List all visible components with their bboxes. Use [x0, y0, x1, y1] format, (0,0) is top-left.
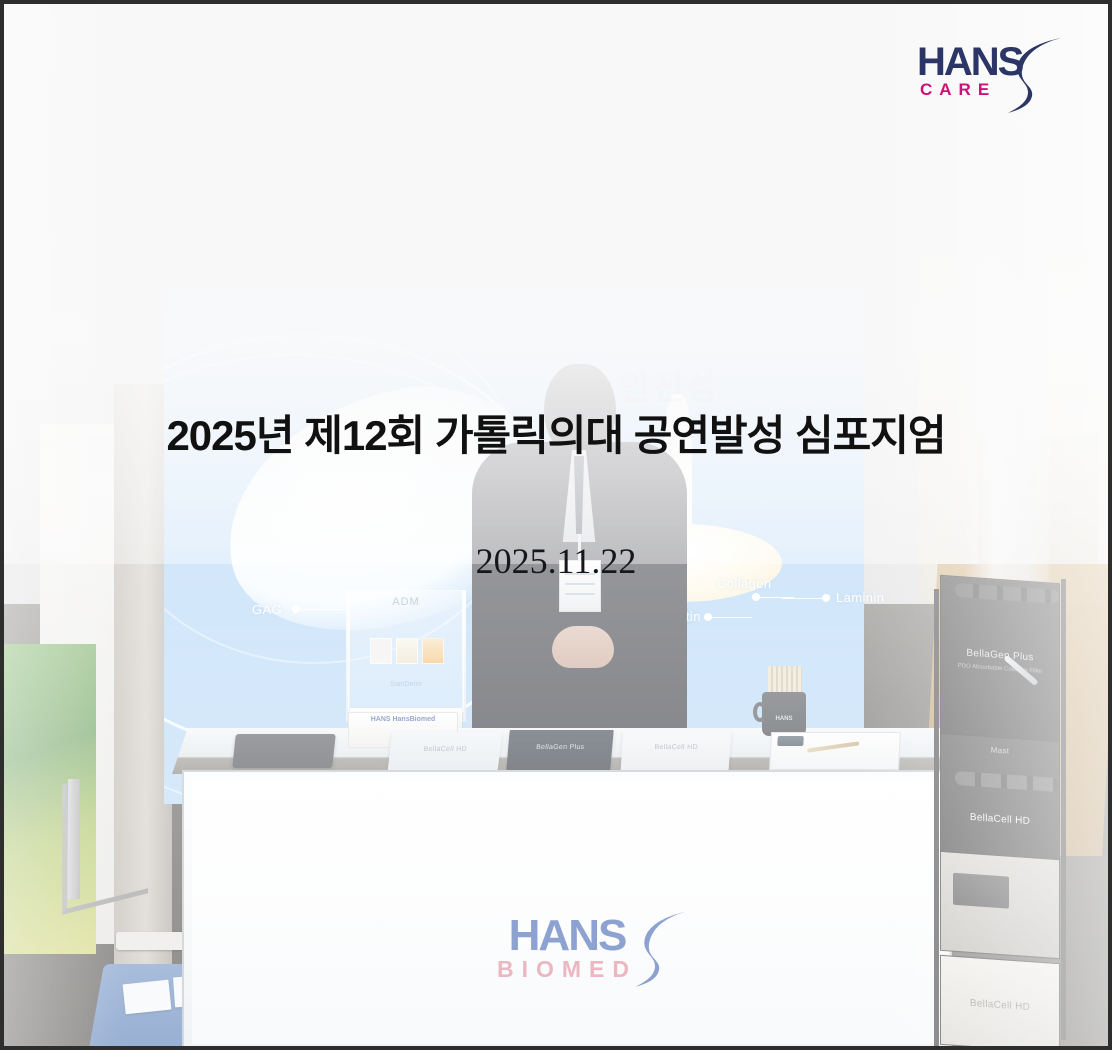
page-title: 2025년 제12회 가톨릭의대 공연발성 심포지엄	[0, 402, 1112, 463]
hans-care-logo: HANS CARE	[917, 36, 1057, 106]
spine-swoosh-icon	[997, 36, 1063, 114]
hans-care-logo-care: CARE	[920, 80, 996, 100]
event-announcement-card: 안전성 GAG Collagen Elastin Laminin ADM Sam…	[0, 0, 1112, 1050]
event-date: 2025.11.22	[0, 540, 1112, 582]
text-overlay: HANS CARE 2025년 제12회 가톨릭의대 공연발성 심포지엄 202…	[0, 0, 1112, 1050]
